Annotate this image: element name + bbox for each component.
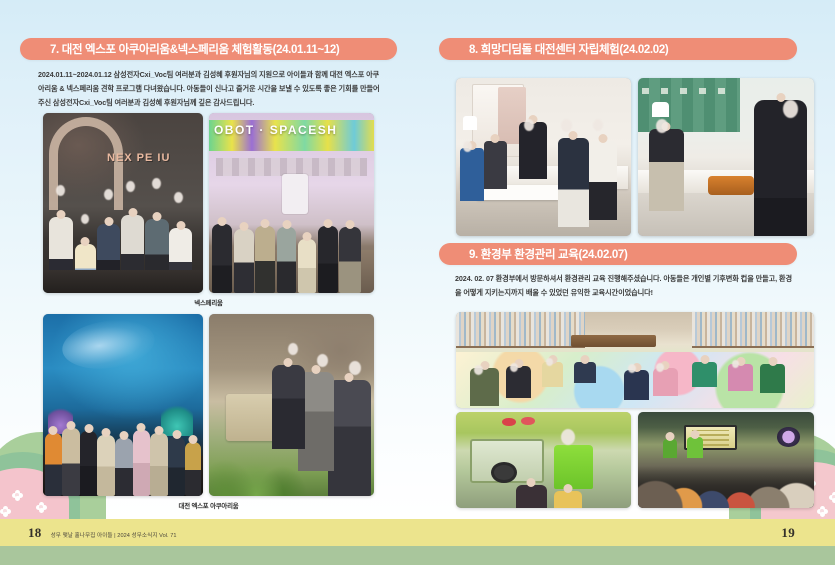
bookshelf [692,312,814,348]
photo-sign-text: NEX PE IU [107,153,170,164]
bookshelf [456,312,585,348]
footer: 18 성무 맺날 홀나무집 아이들 | 2024 성무소식지 Vol. 71 1… [0,519,835,546]
instructor-vest [554,445,593,489]
photo-sign-text: OBOT · SPACESH [214,123,337,137]
photo-art [43,314,203,496]
photo-library-education [456,312,814,408]
section-header-8: 8. 희망디딤돌 대전센터 자립체험(24.02.02) [439,38,797,60]
footer-left: 18 성무 맺날 홀나무집 아이들 | 2024 성무소식지 Vol. 71 [28,525,177,541]
photo-art [209,314,374,496]
section-header-9: 9. 환경부 환경관리 교육(24.02.07) [439,243,797,265]
chef-hat-icon [652,102,669,117]
photo-nexperium-sign: NEX PE IU [43,113,203,293]
section-header-7: 7. 대전 엑스포 아쿠아리움&넥스페리움 체험활동(24.01.11~12) [20,38,397,60]
photo-subjects [43,409,203,496]
section-8-title: 8. 희망디딤돌 대전센터 자립체험(24.02.02) [469,41,668,57]
photo-subjects [209,199,374,293]
photo-driving-simulator [456,412,631,508]
photo-art: OBOT · SPACESH [209,113,374,293]
photo-cooking-teen [638,78,814,236]
right-page: 8. 희망디딤돌 대전센터 자립체험(24.02.02) [417,0,835,519]
photo-caption-aquarium: 대전 엑스포 아쿠아리움 [43,501,374,510]
section-7-body: 2024.01.11~2024.01.12 삼성전자Cxi_Voc팀 여러분과 … [38,68,382,110]
low-table [571,335,657,347]
food-pan [708,176,754,195]
photo-art [456,412,631,508]
photo-art [456,78,631,236]
photo-kitchen-group [456,78,631,236]
audience [638,466,814,508]
photo-touch-pool [209,314,374,496]
section-9-body: 2024. 02. 07 환경부에서 방문하셔서 환경관리 교육 진행해주셨습니… [455,272,797,300]
photo-robot-spaceship: OBOT · SPACESH [209,113,374,293]
photo-art: NEX PE IU [43,113,203,293]
page-number-left: 18 [28,525,42,541]
traffic-sign [521,417,535,426]
footer-band-green [0,546,835,565]
traffic-sign [502,418,516,427]
page-number-right: 19 [781,525,795,540]
photo-art [638,78,814,236]
section-9-title: 9. 환경부 환경관리 교육(24.02.07) [469,246,627,262]
footer-meta-text: 성무 맺날 홀나무집 아이들 | 2024 성무소식지 Vol. 71 [51,531,177,539]
photo-caption-nexperium: 넥스페리움 [43,298,374,307]
floor [43,270,203,293]
magazine-spread: 7. 대전 엑스포 아쿠아리움&넥스페리움 체험활동(24.01.11~12) … [0,0,835,565]
stingray-shape [59,315,157,375]
photo-art [456,312,814,408]
emblem-icon [777,427,800,446]
photo-classroom-video [638,412,814,508]
photo-aquarium-group [43,314,203,496]
section-7-title: 7. 대전 엑스포 아쿠아리움&넥스페리움 체험활동(24.01.11~12) [50,41,339,57]
footer-right: 19 [781,524,795,542]
left-page: 7. 대전 엑스포 아쿠아리움&넥스페리움 체험활동(24.01.11~12) … [0,0,417,519]
photo-art [638,412,814,508]
chef-hat-icon [463,116,477,130]
